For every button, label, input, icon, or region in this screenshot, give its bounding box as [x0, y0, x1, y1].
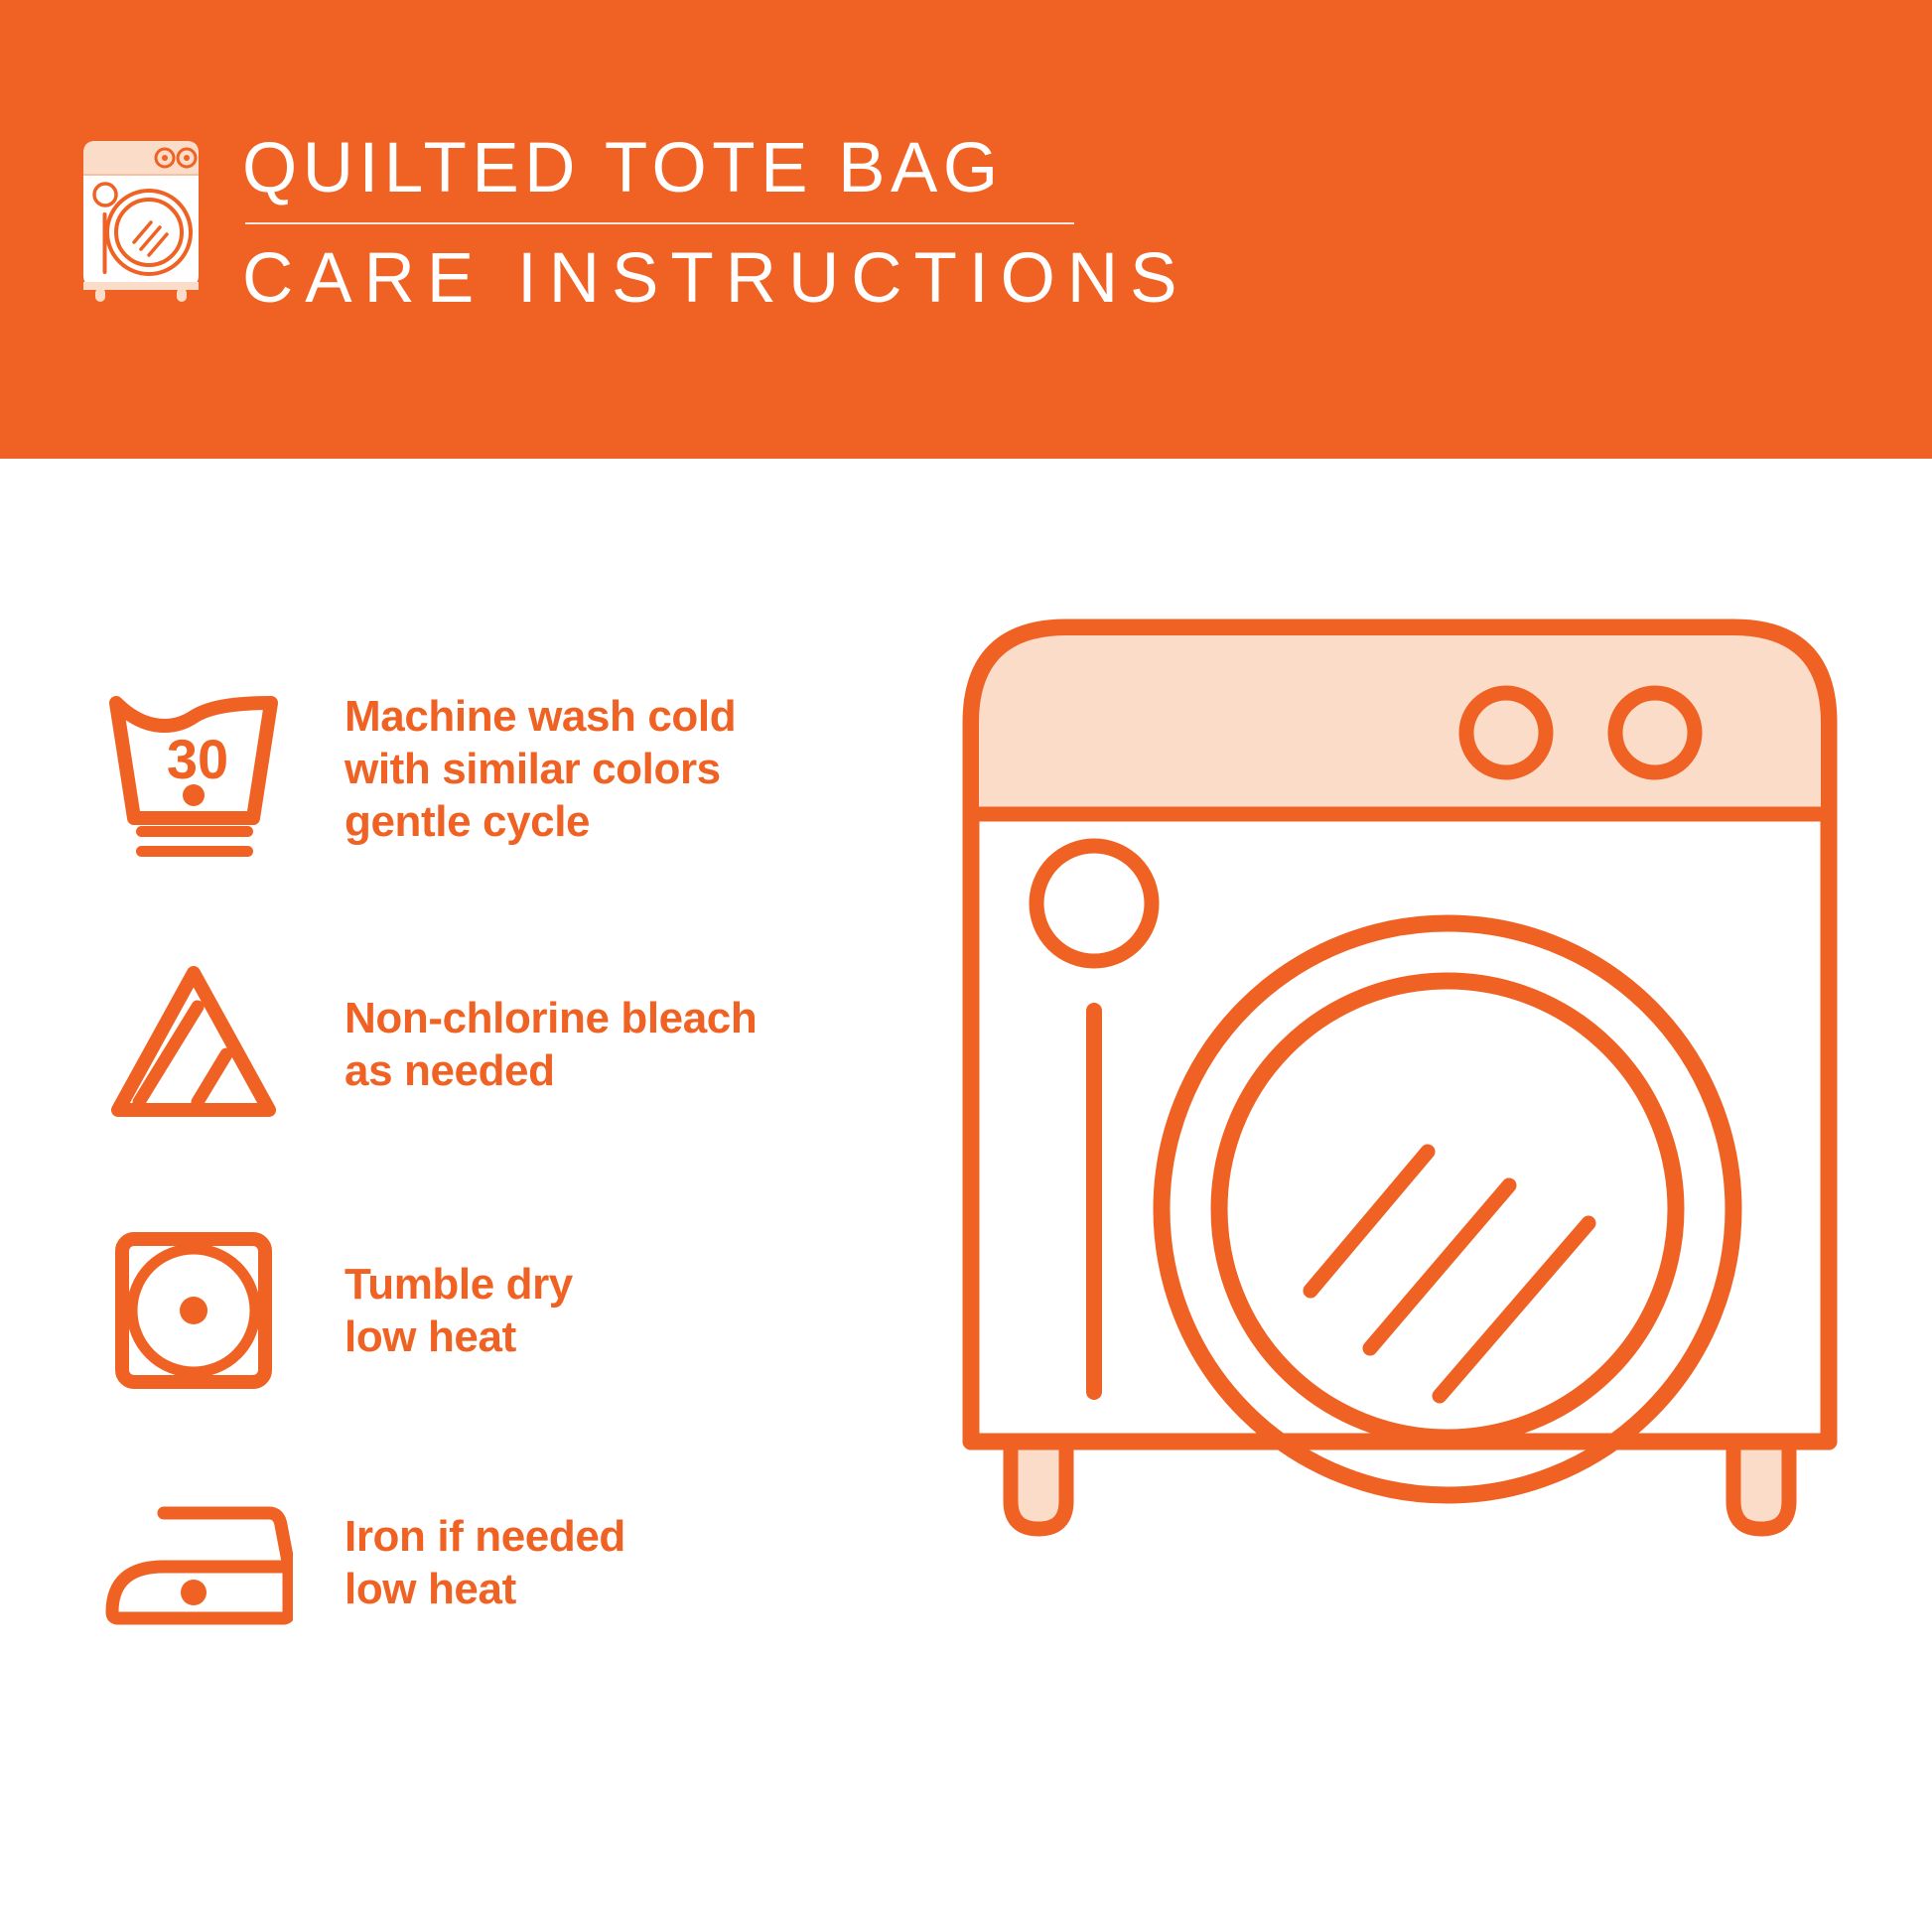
list-item-bleach: Non-chlorine bleach as needed: [94, 945, 898, 1144]
label-line-2: low heat: [345, 1311, 573, 1363]
label-line-1: Iron if needed: [345, 1510, 625, 1563]
list-item-tumble-dry: Tumble dry low heat: [94, 1211, 898, 1410]
list-item-label: Machine wash cold with similar colors ge…: [345, 690, 736, 848]
wash-tub-30-icon: 30: [94, 669, 293, 868]
label-line-2: low heat: [345, 1563, 625, 1615]
page-subtitle: CARE INSTRUCTIONS: [242, 238, 1071, 320]
iron-icon: [94, 1463, 293, 1662]
label-line-1: Machine wash cold: [345, 690, 736, 743]
page-title: QUILTED TOTE BAG: [242, 127, 1071, 210]
label-line-2: with similar colors: [345, 743, 736, 795]
list-item-label: Iron if needed low heat: [345, 1510, 625, 1615]
title-divider: [245, 222, 1074, 224]
header-content: QUILTED TOTE BAG CARE INSTRUCTIONS: [77, 127, 1071, 320]
label-line-1: Non-chlorine bleach: [345, 992, 757, 1044]
care-instruction-list: 30 Machine wash cold with similar colors…: [0, 459, 933, 1932]
tumble-dry-square-icon: [94, 1211, 293, 1410]
washing-machine-icon: [77, 133, 205, 304]
machine-handle-bar: [1086, 1003, 1102, 1400]
header-banner: QUILTED TOTE BAG CARE INSTRUCTIONS: [0, 0, 1932, 459]
list-item-machine-wash: 30 Machine wash cold with similar colors…: [94, 669, 898, 868]
header-text: QUILTED TOTE BAG CARE INSTRUCTIONS: [242, 127, 1071, 320]
svg-text:30: 30: [167, 728, 228, 790]
list-item-label: Tumble dry low heat: [345, 1258, 573, 1363]
large-washing-machine-illustration: [953, 606, 1847, 1827]
label-line-2: as needed: [345, 1044, 757, 1097]
bleach-triangle-icon: [94, 945, 293, 1144]
label-line-3: gentle cycle: [345, 795, 736, 848]
list-item-label: Non-chlorine bleach as needed: [345, 992, 757, 1097]
list-item-iron: Iron if needed low heat: [94, 1463, 898, 1662]
label-line-1: Tumble dry: [345, 1258, 573, 1311]
